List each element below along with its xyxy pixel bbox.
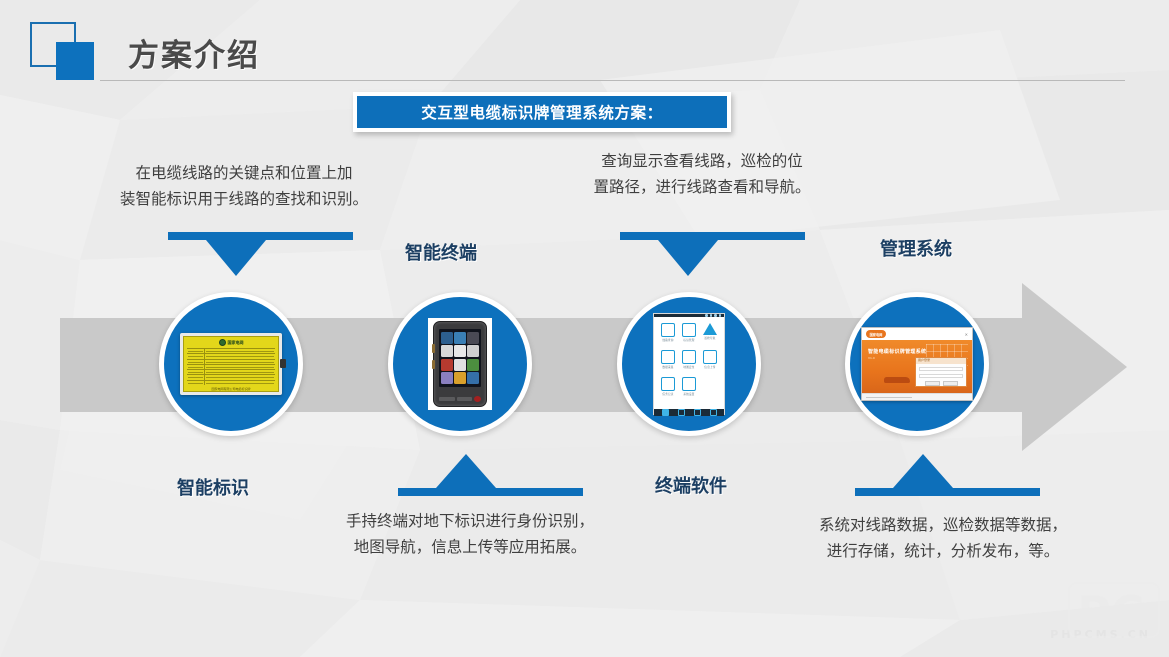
description-smart-tag: 在电缆线路的关键点和位置上加 装智能标识用于线路的查找和识别。 bbox=[74, 160, 414, 212]
tag-clip-icon bbox=[280, 359, 286, 368]
nav-data-icon[interactable] bbox=[678, 409, 685, 416]
connector-down-stage4 bbox=[620, 232, 810, 280]
watermark-logo: PC bbox=[1043, 573, 1163, 653]
stage-label-smart-terminal: 智能终端 bbox=[405, 239, 477, 265]
window-titlebar: 国家电网 ✕ bbox=[862, 328, 972, 340]
window-hero: 智能电缆标识牌管理系统 V1.0 用户登录 bbox=[862, 340, 972, 393]
pda-app-grid bbox=[439, 329, 481, 387]
app-tile[interactable]: 标识管理 bbox=[682, 323, 696, 349]
tag-field-table bbox=[184, 348, 278, 385]
navigation-icon bbox=[703, 323, 717, 335]
header-divider bbox=[100, 80, 1125, 81]
nav-home-icon[interactable] bbox=[662, 409, 669, 416]
banner-title: 交互型电缆标识牌管理系统方案： bbox=[357, 96, 727, 128]
stage-label-terminal-software: 终端软件 bbox=[655, 472, 727, 498]
tag-footer-text: 国家电网有限公司电缆标识牌 bbox=[184, 387, 278, 391]
app-icon-grid: 线路查询 标识管理 巡检导航 数据采集 地图定位 信息上传 bbox=[654, 317, 724, 409]
cable-id-tag-icon: 国家电网 国家电网有限公司电缆标识牌 bbox=[180, 333, 282, 395]
connector-up-stage2 bbox=[398, 452, 588, 500]
app-tile[interactable]: 地图定位 bbox=[682, 350, 696, 376]
connector-up-stage3 bbox=[855, 452, 1045, 500]
stage-circle-terminal-software[interactable]: 线路查询 标识管理 巡检导航 数据采集 地图定位 信息上传 bbox=[617, 292, 761, 436]
svg-text:PC: PC bbox=[1077, 586, 1144, 640]
app-tile[interactable]: 巡检导航 bbox=[703, 323, 717, 349]
app-tile[interactable]: 线路查询 bbox=[661, 323, 675, 349]
stage-circle-management-system[interactable]: 国家电网 ✕ 智能电缆标识牌管理系统 V1.0 用户登录 bbox=[845, 292, 989, 436]
login-dialog: 用户登录 bbox=[915, 357, 967, 387]
app-tile[interactable]: 任务记录 bbox=[661, 377, 675, 403]
nav-map-icon[interactable] bbox=[694, 409, 701, 416]
login-button[interactable] bbox=[925, 381, 940, 386]
description-terminal-software: 系统对线路数据，巡检数据等数据， 进行存储，统计，分析发布，等。 bbox=[768, 512, 1118, 564]
stage-label-smart-tag: 智能标识 bbox=[177, 474, 249, 500]
logo bbox=[30, 22, 102, 82]
handheld-pda-icon bbox=[428, 318, 492, 410]
nav-profile-icon[interactable] bbox=[710, 409, 717, 416]
logo-filled-square bbox=[56, 42, 94, 80]
window-brand-badge: 国家电网 bbox=[866, 330, 886, 338]
cancel-button[interactable] bbox=[943, 381, 958, 386]
app-tile[interactable]: 系统设置 bbox=[682, 377, 696, 403]
description-management-system: 查询显示查看线路，巡检的位 置路径，进行线路查看和导航。 bbox=[552, 148, 852, 200]
list-icon bbox=[661, 323, 675, 337]
document-icon bbox=[682, 323, 696, 337]
password-field[interactable] bbox=[919, 374, 963, 379]
tag-brand: 国家电网 bbox=[228, 341, 244, 345]
task-icon bbox=[661, 377, 675, 391]
username-field[interactable] bbox=[919, 367, 963, 372]
description-handheld-terminal: 手持终端对地下标识进行身份识别， 地图导航，信息上传等应用拓展。 bbox=[300, 508, 640, 560]
window-statusbar bbox=[862, 393, 972, 400]
stage-circle-smart-tag[interactable]: 国家电网 国家电网有限公司电缆标识牌 bbox=[159, 292, 303, 436]
location-icon bbox=[682, 350, 696, 364]
app-tile[interactable]: 信息上传 bbox=[703, 350, 717, 376]
android-app-grid-icon: 线路查询 标识管理 巡检导航 数据采集 地图定位 信息上传 bbox=[653, 313, 725, 415]
stage-label-management-system: 管理系统 bbox=[880, 235, 952, 261]
pda-keypad bbox=[439, 395, 481, 403]
stage-circle-smart-terminal[interactable] bbox=[388, 292, 532, 436]
management-window-icon: 国家电网 ✕ 智能电缆标识牌管理系统 V1.0 用户登录 bbox=[861, 327, 973, 401]
state-grid-logo-icon bbox=[219, 339, 226, 346]
app-bottom-nav bbox=[654, 409, 724, 416]
settings-icon bbox=[682, 377, 696, 391]
upload-icon bbox=[703, 350, 717, 364]
page-title: 方案介绍 bbox=[128, 30, 260, 75]
folder-icon bbox=[661, 350, 675, 364]
hero-vehicle-graphic bbox=[884, 377, 910, 383]
close-icon[interactable]: ✕ bbox=[965, 332, 968, 337]
app-tile[interactable]: 数据采集 bbox=[661, 350, 675, 376]
connector-down-stage1 bbox=[168, 232, 358, 280]
login-dialog-title: 用户登录 bbox=[916, 358, 966, 364]
